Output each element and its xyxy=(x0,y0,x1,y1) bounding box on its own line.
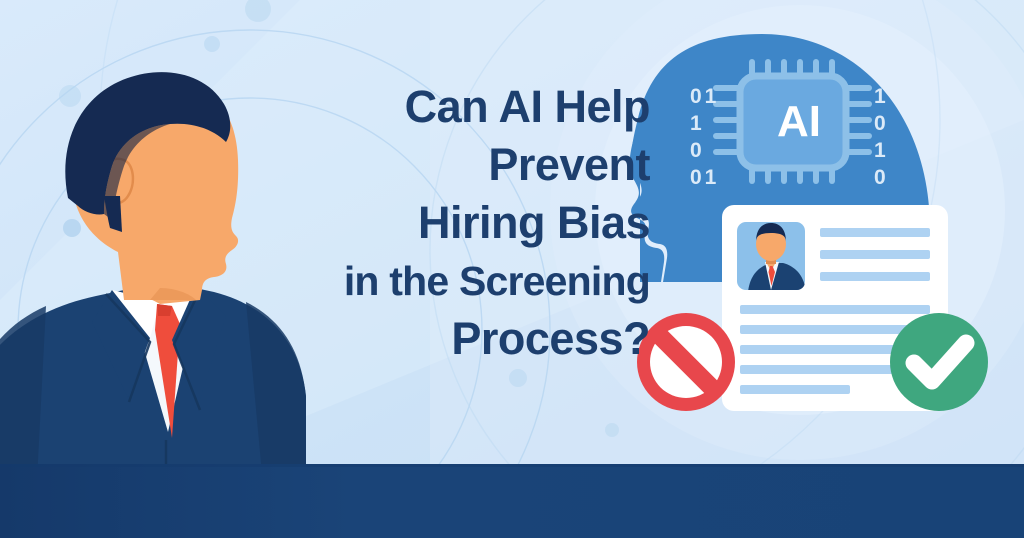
binary-row: 1 xyxy=(874,137,889,164)
binary-row: 0 xyxy=(874,110,889,137)
page-title: Can AI Help Prevent Hiring Bias in the S… xyxy=(170,78,650,368)
binary-row: 01 xyxy=(690,164,719,191)
headline-line: in the Screening xyxy=(170,252,650,310)
headline-line: Can AI Help xyxy=(170,78,650,136)
binary-row: 1 xyxy=(690,110,719,137)
bottom-bar xyxy=(0,464,1024,538)
binary-row: 1 xyxy=(874,83,889,110)
banner-canvas: 01 1 0 01 1 0 1 0 AI xyxy=(0,0,1024,538)
binary-row: 0 xyxy=(690,137,719,164)
headline-line: Hiring Bias xyxy=(170,194,650,252)
binary-digits-left: 01 1 0 01 xyxy=(690,83,719,191)
headline-line: Process? xyxy=(170,310,650,368)
headline-line: Prevent xyxy=(170,136,650,194)
binary-row: 0 xyxy=(874,164,889,191)
binary-digits-right: 1 0 1 0 xyxy=(874,83,889,191)
bottom-bar-edge xyxy=(0,464,1024,467)
binary-row: 01 xyxy=(690,83,719,110)
